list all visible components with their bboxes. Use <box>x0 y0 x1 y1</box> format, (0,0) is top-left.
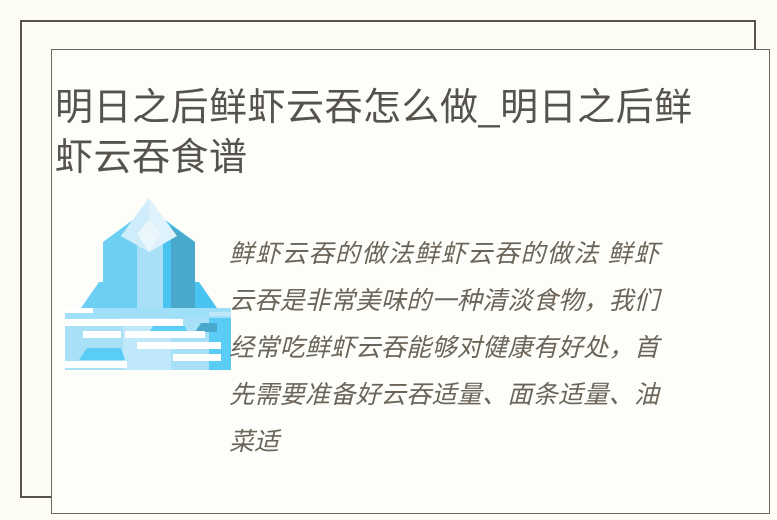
iceberg-illustration <box>59 190 239 370</box>
article-content-row: 鲜虾云吞的做法鲜虾云吞的做法 鲜虾云吞是非常美味的一种清淡食物，我们经常吃鲜虾云… <box>29 180 748 480</box>
iceberg-icon <box>59 190 239 370</box>
page-root: 明日之后鲜虾云吞怎么做_明日之后鲜虾云吞食谱 <box>0 0 777 520</box>
page-title: 明日之后鲜虾云吞怎么做_明日之后鲜虾云吞食谱 <box>55 83 695 183</box>
article-body-text: 鲜虾云吞的做法鲜虾云吞的做法 鲜虾云吞是非常美味的一种清淡食物，我们经常吃鲜虾云… <box>229 231 659 466</box>
